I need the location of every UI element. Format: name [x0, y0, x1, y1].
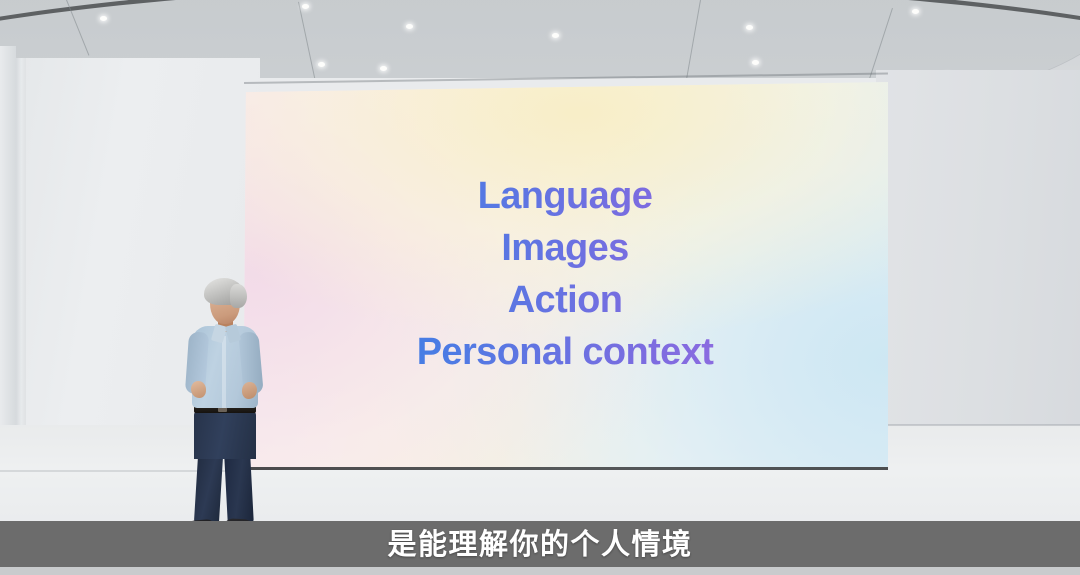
slide-line-personal-context: Personal context [242, 326, 888, 378]
ceiling-spotlight [318, 62, 325, 67]
slide-line-action: Action [242, 274, 888, 326]
right-wall-floor-line [876, 424, 1080, 426]
right-wall [876, 70, 1080, 430]
keynote-screenshot-frame: Language Images Action Personal context … [0, 0, 1080, 575]
screen-bottom-edge [242, 467, 888, 470]
subtitle-text: 是能理解你的个人情境 [387, 530, 692, 559]
slide-line-language: Language [242, 170, 888, 222]
ceiling-spotlight [552, 33, 559, 38]
presenter-jeans [194, 411, 256, 459]
ceiling-spotlight [912, 9, 919, 14]
ceiling-spotlight [100, 16, 107, 21]
presenter-figure [170, 278, 274, 540]
ceiling-spotlight [746, 25, 753, 30]
ceiling-spotlight [302, 4, 309, 9]
presenter-leg-left [194, 453, 223, 524]
left-wall-pillar [0, 46, 16, 476]
subtitle-bar: 是能理解你的个人情境 [0, 521, 1080, 567]
presenter-shirt-placket [222, 336, 226, 408]
presentation-screen: Language Images Action Personal context [242, 82, 888, 470]
subtitle-underbar [0, 567, 1080, 575]
presenter-leg-right [224, 453, 254, 524]
presenter-hair-side [230, 284, 247, 308]
ceiling-spotlight [752, 60, 759, 65]
slide-text-block: Language Images Action Personal context [242, 170, 888, 378]
slide-line-images: Images [242, 222, 888, 274]
ceiling-spotlight [406, 24, 413, 29]
ceiling-spotlight [380, 66, 387, 71]
presenter-hand-left [191, 381, 206, 398]
